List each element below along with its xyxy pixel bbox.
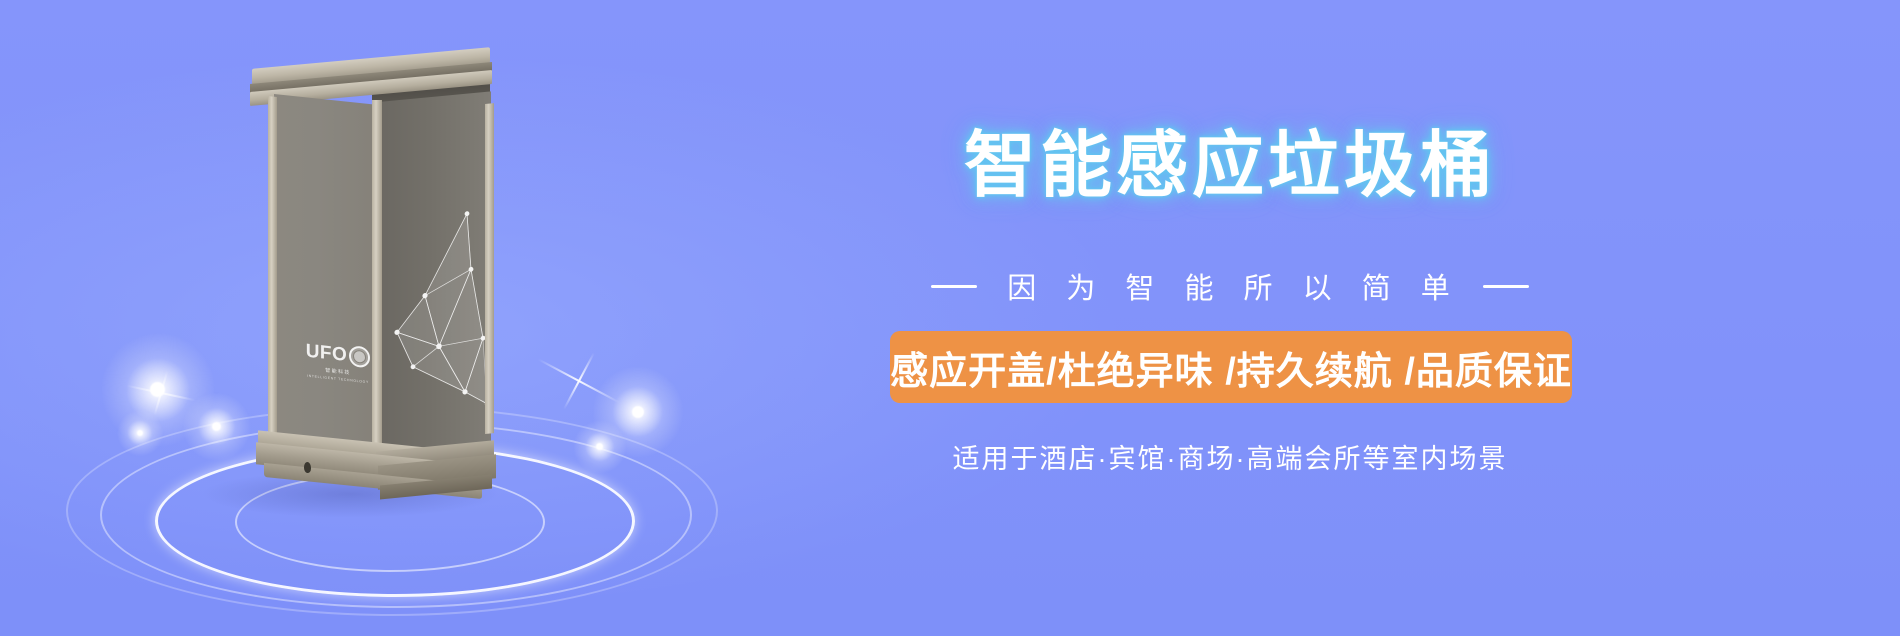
- ufo-logo-ring-icon: [349, 345, 370, 368]
- sparkle-icon: [596, 443, 603, 450]
- bin-edge-left: [268, 96, 277, 453]
- banner-headline: 智能感应垃圾桶: [880, 130, 1580, 202]
- ufo-logo-text: UFO: [306, 342, 348, 365]
- star-flare-icon: [578, 380, 579, 381]
- usage-scenarios-text: 适用于酒店·宾馆·商场·高端会所等室内场景: [880, 437, 1580, 476]
- banner-subtitle-text: 因 为 智 能 所 以 简 单: [999, 265, 1460, 307]
- feature-highlight-badge: 感应开盖/杜绝异味 /持久续航 /品质保证: [890, 331, 1572, 403]
- ufo-brand-logo: UFO 智能科技 INTELLIGENT TECHNOLOGY: [302, 340, 374, 385]
- sparkle-icon: [632, 406, 644, 418]
- dash-right-icon: [1483, 285, 1529, 288]
- smart-trash-bin-product: UFO 智能科技 INTELLIGENT TECHNOLOGY: [246, 58, 496, 458]
- bin-base-port: [304, 462, 311, 474]
- sparkle-icon: [137, 430, 143, 436]
- product-scene: UFO 智能科技 INTELLIGENT TECHNOLOGY: [0, 0, 760, 636]
- bin-edge-right: [485, 103, 494, 434]
- banner-copy: 智能感应垃圾桶 因 为 智 能 所 以 简 单 感应开盖/杜绝异味 /持久续航 …: [880, 0, 1720, 636]
- network-graphic-icon: [379, 91, 491, 454]
- promo-banner: UFO 智能科技 INTELLIGENT TECHNOLOGY 智能感应垃圾桶 …: [0, 0, 1900, 636]
- bin-edge-center: [372, 100, 382, 462]
- dash-left-icon: [931, 285, 977, 288]
- banner-subtitle: 因 为 智 能 所 以 简 单: [880, 265, 1580, 307]
- bin-face-right-glass: [379, 91, 491, 454]
- sparkle-icon: [212, 422, 221, 431]
- bin-face-left: [274, 94, 380, 465]
- sparkle-icon: [150, 382, 165, 397]
